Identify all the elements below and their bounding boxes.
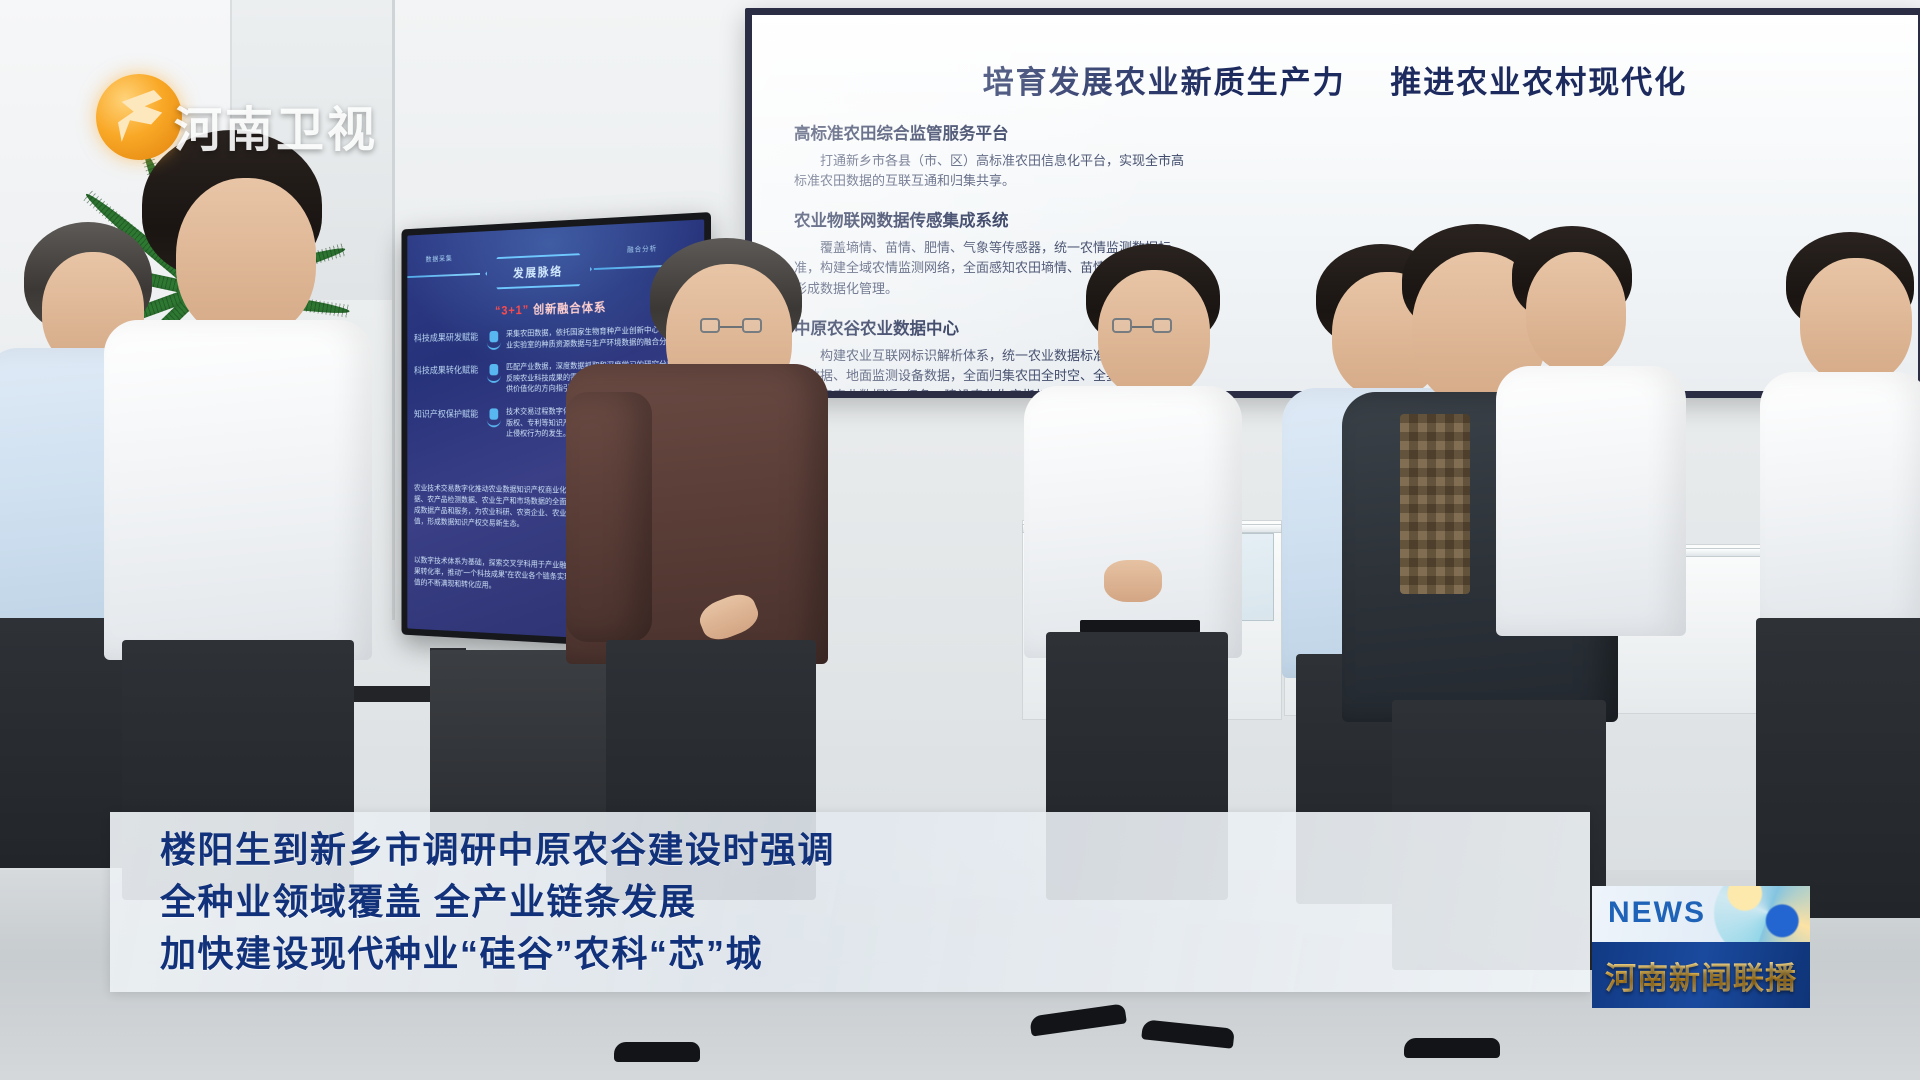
pin-icon bbox=[487, 331, 501, 350]
lower-third-subtitle: 楼阳生到新乡市调研中原农谷建设时强调 全种业领域覆盖 全产业链条发展 加快建设现… bbox=[110, 812, 1590, 992]
board-title-part2: 推进农业农村现代化 bbox=[1390, 65, 1687, 100]
channel-logo: 河南卫视 bbox=[96, 56, 396, 164]
tv-red-title-rest: 创新融合体系 bbox=[533, 301, 606, 317]
tv-red-title-quote: “3+1” bbox=[495, 303, 529, 317]
shield-icon bbox=[487, 408, 501, 427]
tv-row-label-2: 科技成果转化赋能 bbox=[414, 362, 485, 378]
subtitle-line-2: 全种业领域覆盖 全产业链条发展 bbox=[160, 876, 1590, 928]
board-title-part1: 培育发展农业新质生产力 bbox=[983, 65, 1346, 100]
program-bug-bottom: 河南新闻联播 bbox=[1592, 942, 1810, 1008]
board-title: 培育发展农业新质生产力 推进农业农村现代化 bbox=[752, 57, 1918, 102]
lock-icon bbox=[487, 364, 501, 383]
board-section-heading-2: 农业物联网数据传感集成系统 bbox=[794, 207, 1194, 231]
tv-row-label-1: 科技成果研发赋能 bbox=[414, 329, 485, 345]
subtitle-line-1: 楼阳生到新乡市调研中原农谷建设时强调 bbox=[160, 824, 1590, 876]
tv-tag-2: 融合分析 bbox=[627, 244, 657, 255]
program-bug-top: NEWS bbox=[1592, 886, 1810, 942]
channel-logo-text: 河南卫视 bbox=[174, 90, 378, 160]
board-section-heading-1: 高标准农田综合监管服务平台 bbox=[794, 120, 1194, 144]
broadcast-frame: 培育发展农业新质生产力 推进农业农村现代化 高标准农田综合监管服务平台 打通新乡… bbox=[0, 0, 1920, 1080]
program-name: 河南新闻联播 bbox=[1605, 953, 1797, 998]
tv-tag-1: 数据采集 bbox=[426, 254, 453, 265]
globe-icon bbox=[1714, 886, 1810, 942]
subtitle-line-3: 加快建设现代种业“硅谷”农科“芯”城 bbox=[160, 928, 1590, 980]
program-bug: NEWS 河南新闻联播 bbox=[1592, 886, 1810, 1008]
henan-tv-orb-logo-icon bbox=[96, 74, 182, 160]
check-sweater bbox=[1400, 414, 1470, 594]
board-section-body-1: 打通新乡市各县（市、区）高标准农田信息化平台，实现全市高标准农田数据的互联互通和… bbox=[794, 151, 1194, 191]
tv-row-label-3: 知识产权保护赋能 bbox=[414, 407, 485, 422]
news-label: NEWS bbox=[1608, 896, 1706, 930]
tv-node-label: 发展脉络 bbox=[485, 253, 592, 290]
